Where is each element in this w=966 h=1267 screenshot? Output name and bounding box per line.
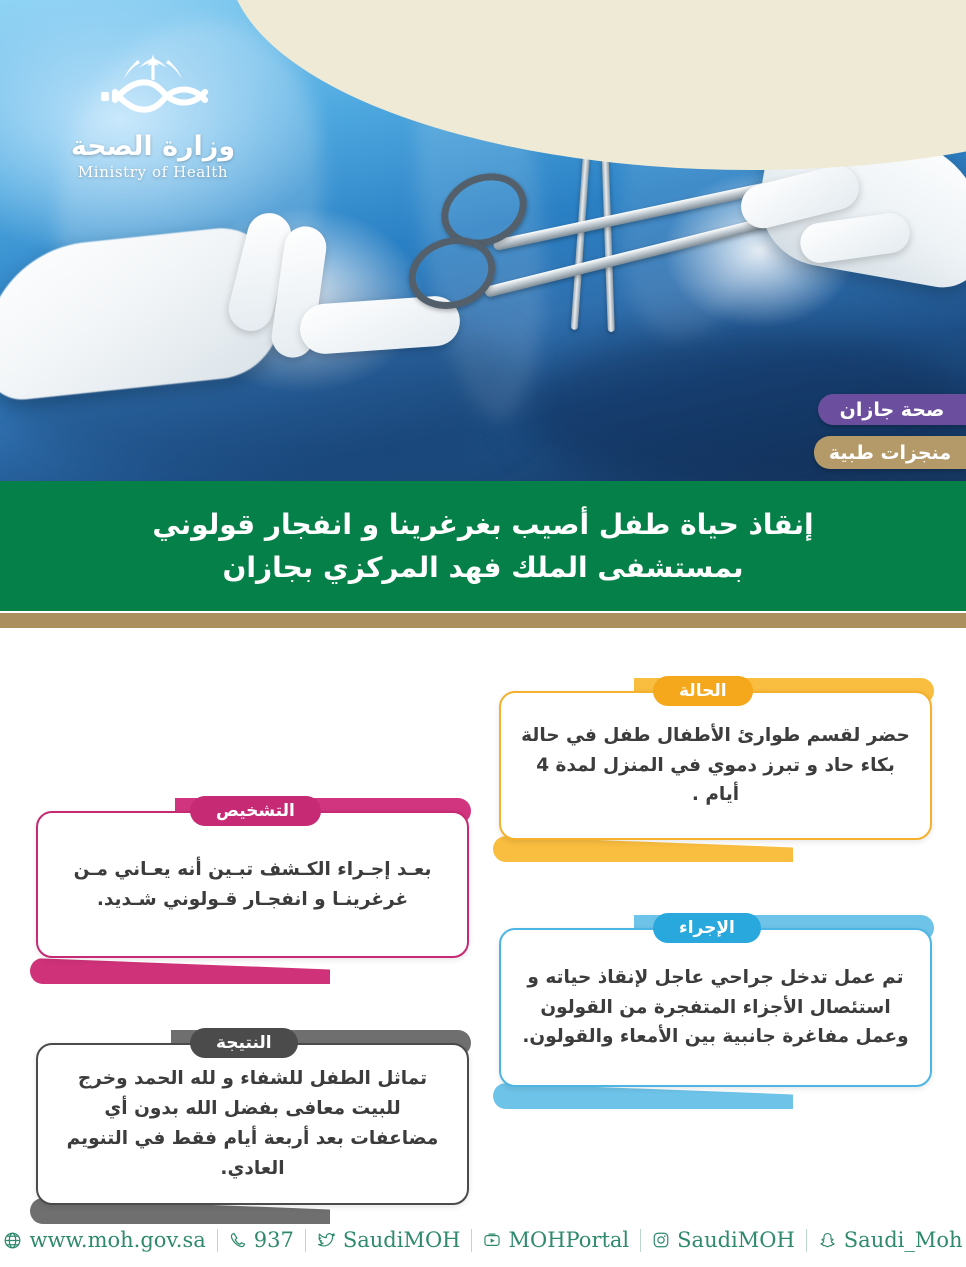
card-procedure-tab: الإجراء (653, 913, 761, 943)
card-result: النتيجة تماثل الطفل للشفاء و لله الحمد و… (24, 1028, 479, 1218)
card-diagnosis-tab: التشخيص (190, 796, 321, 826)
footer-instagram-label: SaudiMOH (677, 1228, 795, 1252)
youtube-icon (483, 1231, 501, 1249)
gold-divider-bar (0, 613, 966, 628)
card-case-text: حضر لقسم طوارئ الأطفال طفل في حالة بكاء … (501, 721, 930, 811)
card-diagnosis-text: بعـد إجـراء الكـشف تبـين أنه يعـاني مـن … (38, 855, 467, 915)
card-result-text: تماثل الطفل للشفاء و لله الحمد وخرج للبي… (38, 1064, 467, 1184)
footer-youtube[interactable]: MOHPortal (472, 1228, 640, 1252)
card-case-tab: الحالة (653, 676, 753, 706)
footer-youtube-label: MOHPortal (508, 1228, 629, 1252)
footer-items: www.moh.gov.sa 937 SaudiMOH (0, 1228, 966, 1252)
page-title: إنقاذ حياة طفل أصيب بغرغرينا و انفجار قو… (43, 503, 923, 590)
footer-phone[interactable]: 937 (218, 1228, 305, 1252)
footer-twitter-label: SaudiMOH (343, 1228, 461, 1252)
card-diagnosis-body: بعـد إجـراء الكـشف تبـين أنه يعـاني مـن … (36, 811, 469, 958)
card-case-tab-label: الحالة (679, 681, 727, 701)
badge-achievements: منجزات طبية (814, 436, 966, 469)
card-result-tab-label: النتيجة (216, 1033, 272, 1053)
card-result-body: تماثل الطفل للشفاء و لله الحمد وخرج للبي… (36, 1043, 469, 1205)
card-case: الحالة حضر لقسم طوارئ الأطفال طفل في حال… (487, 676, 942, 856)
badge-jazan-label: صحة جازان (840, 399, 945, 421)
badge-jazan: صحة جازان (818, 394, 966, 425)
footer-website[interactable]: www.moh.gov.sa (0, 1228, 217, 1252)
card-procedure: الإجراء تم عمل تدخل جراحي عاجل لإنقاذ حي… (487, 913, 942, 1103)
moh-logo: وزارة الصحة Ministry of Health (58, 52, 248, 181)
footer-instagram[interactable]: SaudiMOH (641, 1228, 806, 1252)
card-diagnosis-tab-label: التشخيص (216, 801, 295, 821)
footer-website-label: www.moh.gov.sa (29, 1228, 205, 1252)
infographic-poster: وزارة الصحة Ministry of Health صحة جازان… (0, 0, 966, 1267)
footer-twitter[interactable]: SaudiMOH (306, 1228, 472, 1252)
card-procedure-text: تم عمل تدخل جراحي عاجل لإنقاذ حياته و اس… (501, 963, 930, 1053)
title-band: إنقاذ حياة طفل أصيب بغرغرينا و انفجار قو… (0, 481, 966, 611)
page-title-line2: بمستشفى الملك فهد المركزي بجازان (43, 546, 923, 589)
card-procedure-tab-label: الإجراء (679, 918, 735, 938)
instagram-icon (652, 1231, 670, 1249)
logo-english-text: Ministry of Health (58, 163, 248, 181)
badge-achievements-label: منجزات طبية (829, 442, 951, 464)
snapchat-icon (818, 1231, 837, 1250)
cards-area: الحالة حضر لقسم طوارئ الأطفال طفل في حال… (0, 628, 966, 1213)
card-procedure-body: تم عمل تدخل جراحي عاجل لإنقاذ حياته و اس… (499, 928, 932, 1087)
footer-phone-label: 937 (254, 1228, 294, 1252)
twitter-icon (317, 1231, 336, 1250)
card-result-tab: النتيجة (190, 1028, 298, 1058)
footer-snapchat-label: Saudi_Moh (844, 1228, 963, 1252)
card-diagnosis: التشخيص بعـد إجـراء الكـشف تبـين أنه يعـ… (24, 796, 479, 976)
globe-icon (3, 1231, 22, 1250)
card-case-body: حضر لقسم طوارئ الأطفال طفل في حالة بكاء … (499, 691, 932, 840)
logo-arabic-text: وزارة الصحة (58, 132, 248, 162)
footer-snapchat[interactable]: Saudi_Moh (807, 1228, 966, 1252)
page-title-line1: إنقاذ حياة طفل أصيب بغرغرينا و انفجار قو… (43, 503, 923, 546)
phone-icon (229, 1231, 247, 1249)
hero-image: وزارة الصحة Ministry of Health صحة جازان… (0, 0, 966, 481)
card-diagnosis-tail (30, 958, 330, 984)
moh-palm-swords-icon (58, 52, 248, 130)
